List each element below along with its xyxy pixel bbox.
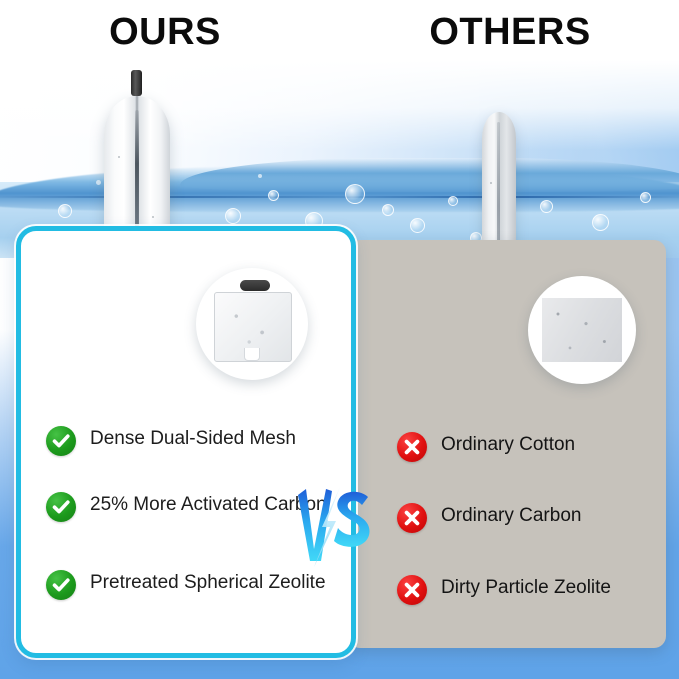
feature-label: Ordinary Cotton [441,432,575,457]
feature-row-others-3: Dirty Particle Zeolite [397,575,662,605]
cross-circle-icon [397,432,427,462]
feature-row-others-2: Ordinary Carbon [397,503,662,533]
check-circle-icon [46,570,76,600]
bubble-icon [410,218,425,233]
check-circle-icon [46,426,76,456]
bubble-icon [540,200,553,213]
feature-row-ours-3: Pretreated Spherical Zeolite [46,570,336,600]
fiber-speck [152,216,154,218]
coarse-texture-closeup [542,298,622,362]
bubble-icon [640,192,651,203]
feature-label: Dirty Particle Zeolite [441,575,611,600]
header-ours: OURS [60,10,270,54]
bubble-icon [58,204,72,218]
bubble-icon [225,208,241,224]
droplet-icon [96,180,101,185]
feature-label: Pretreated Spherical Zeolite [90,570,326,595]
header-others: OTHERS [400,10,620,54]
cross-circle-icon [397,575,427,605]
bubble-icon [448,196,458,206]
feature-row-ours-1: Dense Dual-Sided Mesh [46,426,336,456]
ours-closeup-inset [196,268,308,380]
fiber-speck [118,156,120,158]
bubble-icon [592,214,609,231]
cartridge-tab-icon [240,280,270,291]
others-closeup-inset [528,276,636,384]
cartridge-notch [244,348,260,361]
feature-row-ours-2: 25% More Activated Carbon [46,492,336,522]
cross-circle-icon [397,503,427,533]
bubble-icon [345,184,365,204]
water-crest-secondary [180,158,679,192]
feature-label: Dense Dual-Sided Mesh [90,426,296,451]
feature-row-others-1: Ordinary Cotton [397,432,662,462]
bubble-icon [382,204,394,216]
vs-badge: VS [296,487,382,567]
comparison-infographic: OURS OTHERS Dense Dual-Sided Mesh [0,0,679,679]
hanger-clip-icon [131,70,142,96]
bubble-icon [268,190,279,201]
feature-label: Ordinary Carbon [441,503,581,528]
droplet-icon [258,174,262,178]
fiber-speck [490,182,492,184]
check-circle-icon [46,492,76,522]
water-surface-line [0,196,679,198]
feature-label: 25% More Activated Carbon [90,492,327,517]
